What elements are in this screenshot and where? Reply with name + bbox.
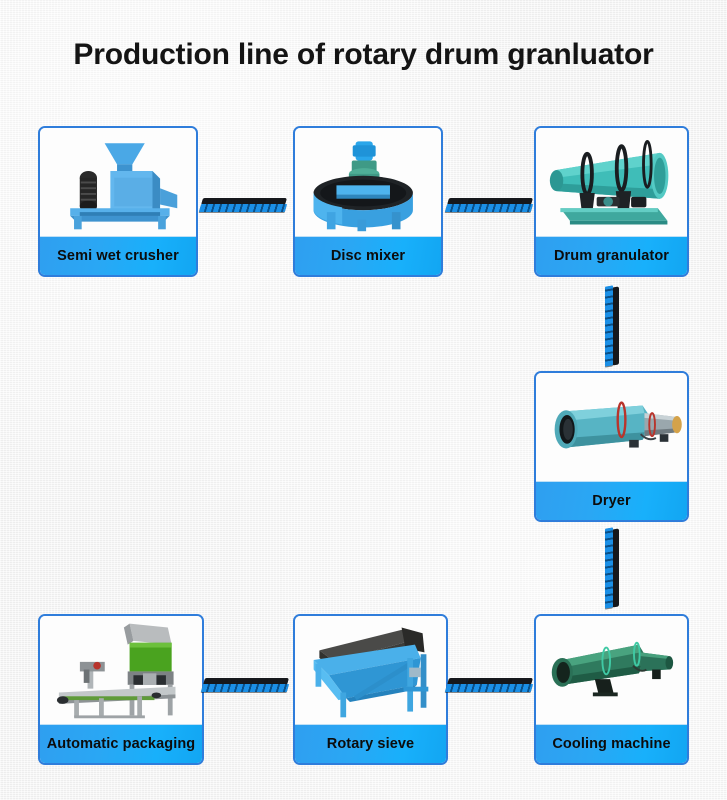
flow-node-automatic-packaging[interactable]: Automatic packaging [38,614,204,765]
drum-granulator-figure [536,128,687,236]
conveyor-belt-icon-dryer-to-cooling [603,528,621,608]
disc-mixer-figure [295,128,441,236]
cooling-machine-icon [536,616,687,724]
flow-node-drum-granulator[interactable]: Drum granulator [534,126,689,277]
flow-node-dryer[interactable]: Dryer [534,371,689,522]
node-label-dryer: Dryer [536,481,687,520]
disc-mixer-machine-icon [295,128,441,236]
semi-wet-crusher-figure [40,128,196,236]
conveyor-belt-icon-sieve-to-packaging [202,678,290,696]
conveyor-belt-icon-granulator-to-dryer [603,286,621,366]
conveyor-belt-icon-cooling-to-sieve [446,678,534,696]
automatic-packaging-machine-icon [40,616,202,724]
rotary-sieve-machine-icon [295,616,446,724]
automatic-packaging-figure [40,616,202,724]
dryer-machine-icon [536,373,687,481]
semi-wet-crusher-machine-icon [40,128,196,236]
flow-node-rotary-sieve[interactable]: Rotary sieve [293,614,448,765]
flow-node-cooling-machine[interactable]: Cooling machine [534,614,689,765]
node-label-drum-granulator: Drum granulator [536,236,687,275]
flow-node-semi-wet-crusher[interactable]: Semi wet crusher [38,126,198,277]
node-label-automatic-packaging: Automatic packaging [40,724,202,763]
flow-node-disc-mixer[interactable]: Disc mixer [293,126,443,277]
rotary-sieve-figure [295,616,446,724]
node-label-rotary-sieve: Rotary sieve [295,724,446,763]
node-label-cooling-machine: Cooling machine [536,724,687,763]
page-title: Production line of rotary drum granluato… [0,38,727,72]
drum-granulator-machine-icon [536,128,687,236]
cooling-machine-figure [536,616,687,724]
dryer-figure [536,373,687,481]
node-label-disc-mixer: Disc mixer [295,236,441,275]
conveyor-belt-icon-crusher-to-mixer [200,198,288,216]
node-label-semi-wet-crusher: Semi wet crusher [40,236,196,275]
conveyor-belt-icon-mixer-to-granulator [446,198,534,216]
